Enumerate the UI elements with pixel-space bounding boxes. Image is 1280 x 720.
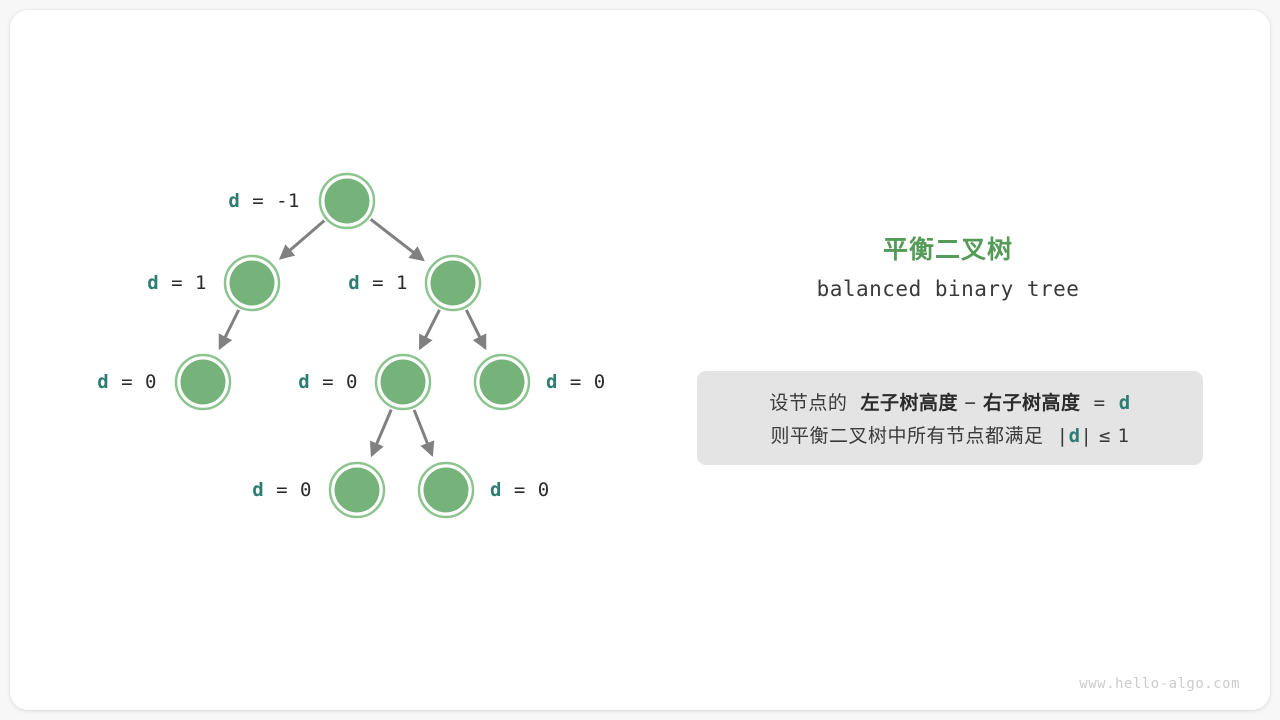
- definition-line-1: 设节点的 左子树高度 − 右子树高度 = d: [769, 388, 1130, 415]
- tree-edge: [372, 410, 391, 455]
- balance-value: = 0: [310, 371, 358, 393]
- equals-sign: =: [1094, 392, 1106, 414]
- balance-value: = 0: [502, 479, 550, 501]
- illustration-canvas: d = -1d = 1d = 1d = 0d = 0d = 0d = 0d = …: [0, 0, 1280, 720]
- balance-variable: d: [490, 479, 502, 501]
- definition-left-subtree-height: 左子树高度: [860, 392, 958, 414]
- node-balance-label: d = 0: [490, 479, 550, 501]
- balance-condition-prefix: 则平衡二叉树中所有节点都满足: [771, 425, 1044, 447]
- balance-value: = -1: [240, 190, 300, 212]
- tree-edge: [371, 219, 423, 259]
- node-balance-label: d = -1: [228, 190, 300, 212]
- tree-node[interactable]: [230, 261, 275, 306]
- page-title: 平衡二叉树: [698, 230, 1198, 266]
- tree-node[interactable]: [335, 468, 380, 513]
- tree-node[interactable]: [424, 468, 469, 513]
- node-balance-label: d = 0: [252, 479, 312, 501]
- tree-node[interactable]: [431, 261, 476, 306]
- tree-node[interactable]: [181, 360, 226, 405]
- balance-variable: d: [97, 371, 109, 393]
- balance-value: = 1: [360, 272, 408, 294]
- tree-edge: [466, 310, 485, 348]
- tree-edge: [281, 221, 325, 259]
- balance-variable: d: [546, 371, 558, 393]
- tree-node[interactable]: [480, 360, 525, 405]
- tree-nodes: [176, 174, 529, 517]
- definition-right-subtree-height: 右子树高度: [983, 392, 1081, 414]
- tree-edge: [420, 310, 439, 348]
- node-balance-label: d = 0: [546, 371, 606, 393]
- balance-variable: d: [298, 371, 310, 393]
- definition-box: 设节点的 左子树高度 − 右子树高度 = d 则平衡二叉树中所有节点都满足 |d…: [697, 371, 1203, 465]
- balance-value: = 1: [159, 272, 207, 294]
- definition-line-2: 则平衡二叉树中所有节点都满足 |d| ≤ 1: [771, 421, 1130, 448]
- binary-tree-diagram: [0, 0, 1280, 720]
- balance-variable: d: [252, 479, 264, 501]
- balance-variable: d: [228, 190, 240, 212]
- tree-edge: [220, 310, 239, 348]
- tree-edges: [220, 219, 485, 455]
- balance-limit-value: 1: [1118, 425, 1130, 447]
- d-symbol-abs: d: [1069, 425, 1081, 447]
- d-symbol: d: [1119, 392, 1131, 414]
- node-balance-label: d = 1: [147, 272, 207, 294]
- tree-node[interactable]: [381, 360, 426, 405]
- balance-value: = 0: [109, 371, 157, 393]
- balance-variable: d: [147, 272, 159, 294]
- balance-value: = 0: [558, 371, 606, 393]
- minus-sign: −: [965, 392, 977, 414]
- abs-bar-open: |: [1057, 425, 1069, 447]
- tree-node[interactable]: [325, 179, 370, 224]
- less-equal-sign: ≤: [1099, 425, 1111, 447]
- node-balance-label: d = 1: [348, 272, 408, 294]
- node-balance-label: d = 0: [97, 371, 157, 393]
- page-subtitle: balanced binary tree: [698, 277, 1198, 301]
- balance-value: = 0: [264, 479, 312, 501]
- tree-edge: [414, 410, 432, 455]
- balance-variable: d: [348, 272, 360, 294]
- definition-prefix: 设节点的: [769, 392, 847, 414]
- node-balance-label: d = 0: [298, 371, 358, 393]
- abs-bar-close: |: [1081, 425, 1093, 447]
- watermark: www.hello-algo.com: [1079, 676, 1240, 692]
